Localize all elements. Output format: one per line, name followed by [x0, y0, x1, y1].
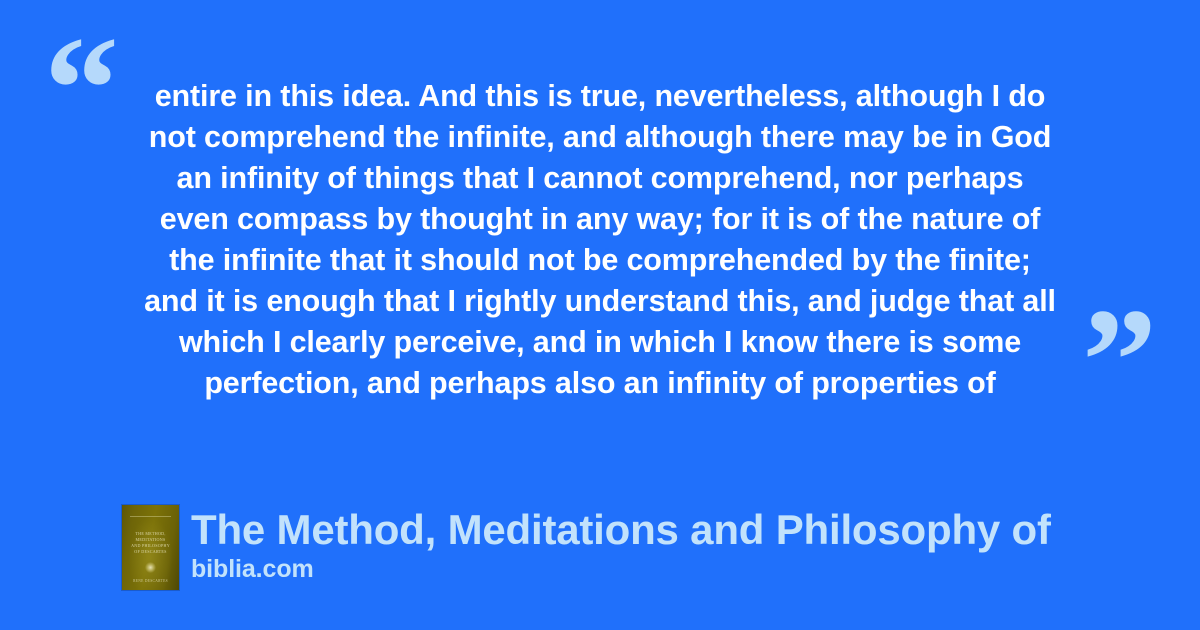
open-quote-icon: “: [44, 14, 119, 164]
site-name: biblia.com: [191, 554, 1051, 584]
quote-text-block: entire in this idea. And this is true, n…: [110, 76, 1090, 404]
quote-line: not comprehend the infinite, and althoug…: [110, 117, 1090, 158]
quote-line: even compass by thought in any way; for …: [110, 199, 1090, 240]
quote-card: “ entire in this idea. And this is true,…: [0, 0, 1200, 630]
quote-line: which I clearly perceive, and in which I…: [110, 322, 1090, 363]
quote-line: the infinite that it should not be compr…: [110, 240, 1090, 281]
quote-line: and it is enough that I rightly understa…: [110, 281, 1090, 322]
book-cover-thumbnail-icon: The Method, Meditations and Philosophy o…: [122, 505, 179, 590]
cover-title-text: The Method, Meditations and Philosophy o…: [131, 531, 170, 555]
source-attribution: The Method, Meditations and Philosophy o…: [122, 505, 1182, 590]
quote-line: entire in this idea. And this is true, n…: [110, 76, 1090, 117]
quote-line: an infinity of things that I cannot comp…: [110, 158, 1090, 199]
book-title: The Method, Meditations and Philosophy o…: [191, 505, 1051, 555]
quote-line: perfection, and perhaps also an infinity…: [110, 363, 1090, 404]
close-quote-icon: ”: [1082, 286, 1157, 436]
attribution-text-group: The Method, Meditations and Philosophy o…: [191, 505, 1051, 584]
cover-author-text: Rene Descartes: [128, 579, 173, 583]
cover-divider: [130, 516, 171, 517]
cover-emblem-icon: [145, 562, 156, 573]
